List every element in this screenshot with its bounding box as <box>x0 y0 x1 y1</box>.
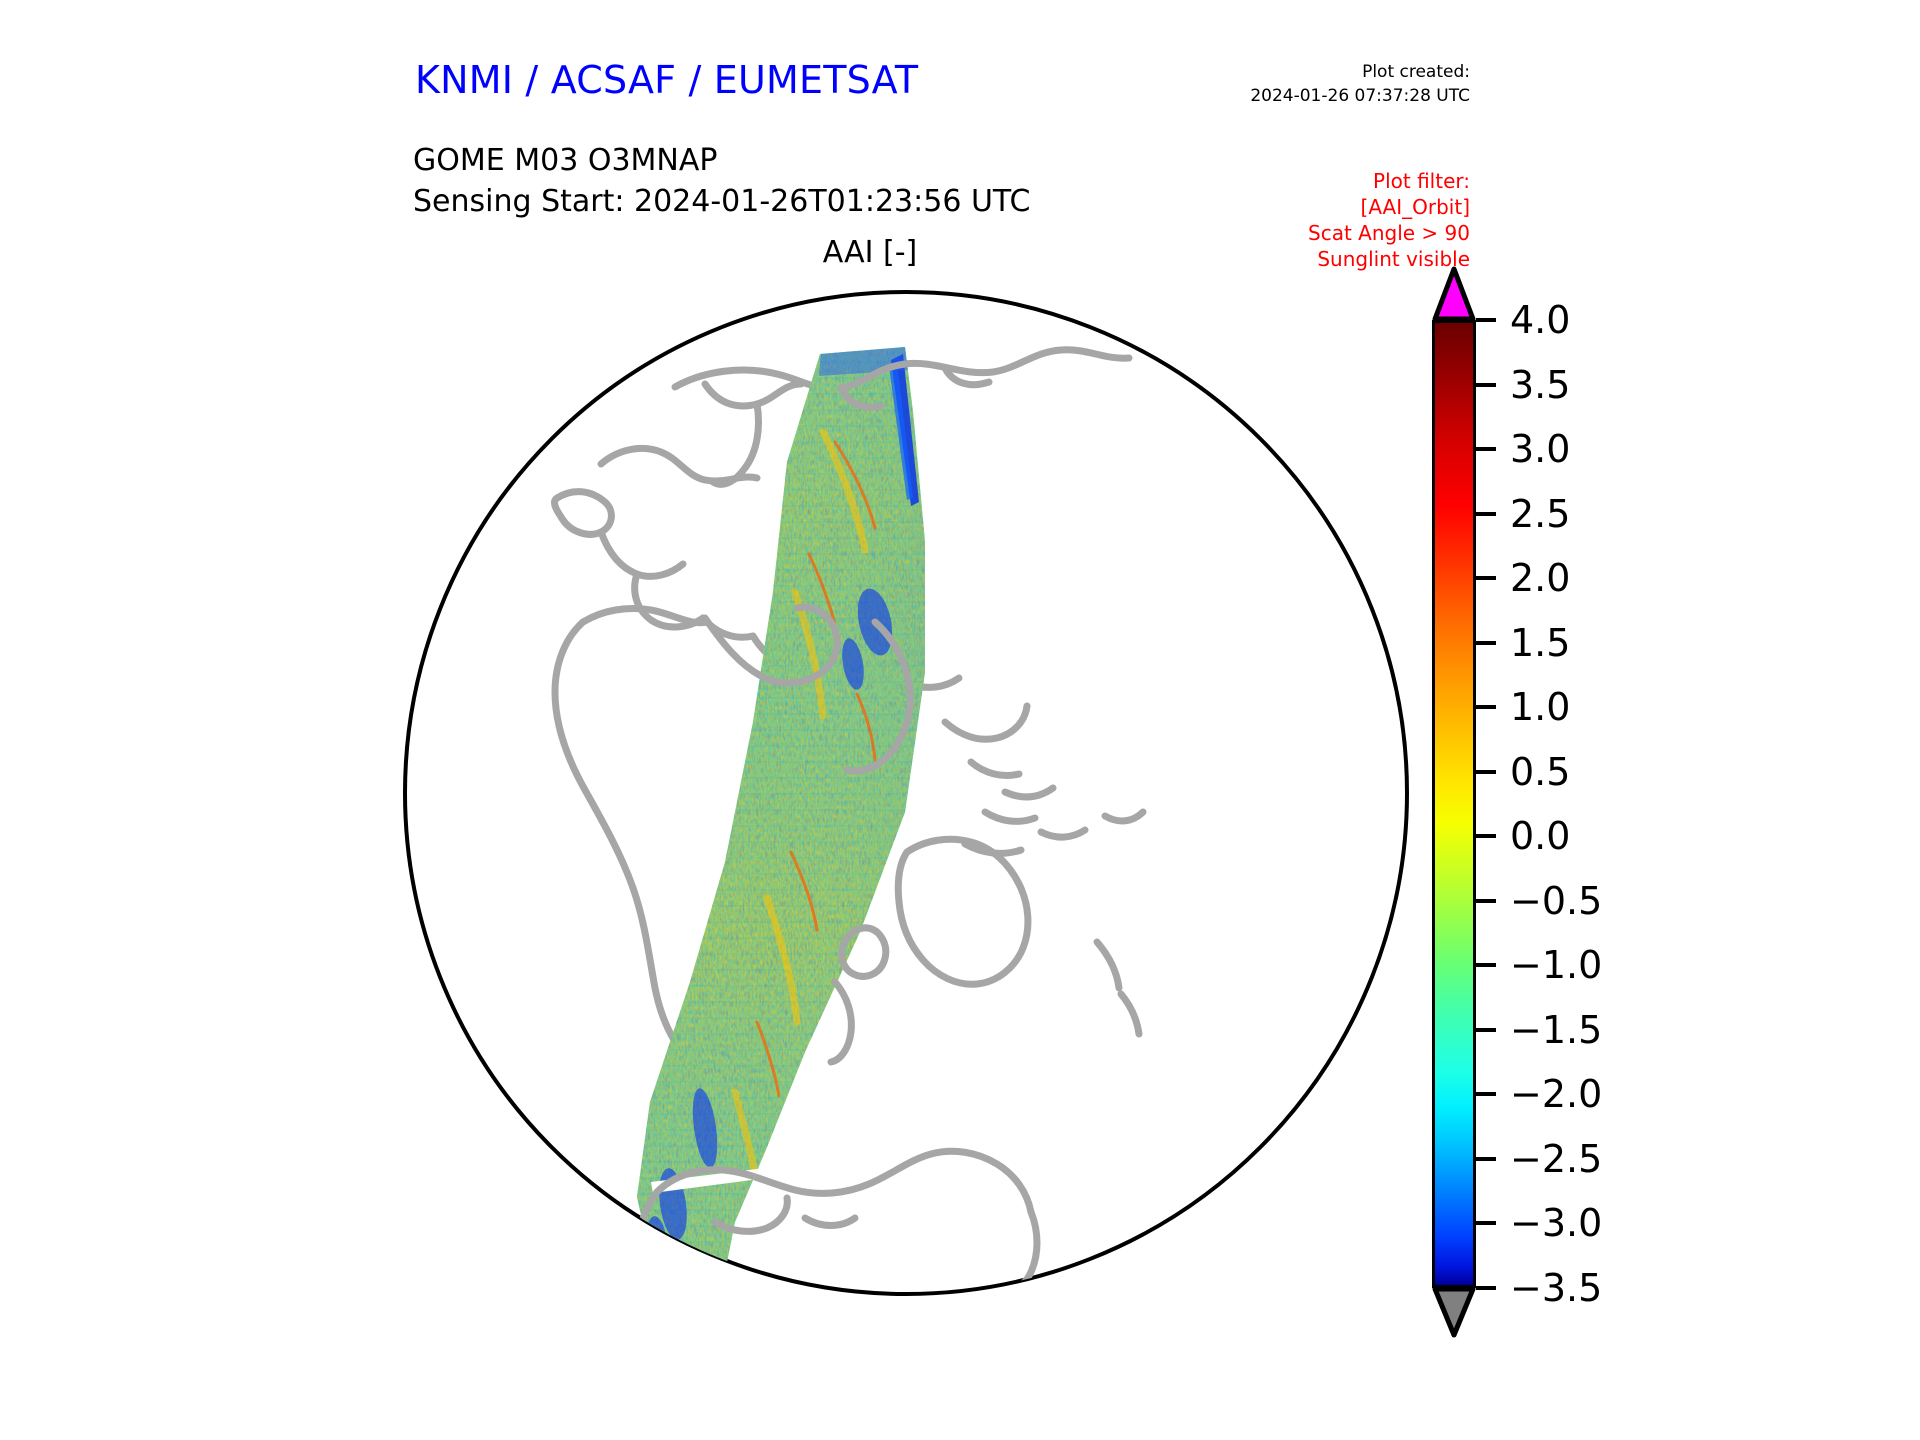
plot-filter-block: Plot filter: [AAI_Orbit] Scat Angle > 90… <box>1308 168 1470 272</box>
colorbar-tick <box>1476 963 1496 967</box>
colorbar-tick-label: −1.0 <box>1510 946 1602 984</box>
colorbar-tick-label: 0.5 <box>1510 753 1570 791</box>
colorbar-tick <box>1476 899 1496 903</box>
data-swath <box>605 332 965 1294</box>
plot-created-value: 2024-01-26 07:37:28 UTC <box>1250 84 1470 108</box>
colorbar-tick <box>1476 512 1496 516</box>
colorbar-over-arrow-icon <box>1432 266 1476 322</box>
colorbar-tick <box>1476 1092 1496 1096</box>
colorbar-tick <box>1476 1157 1496 1161</box>
colorbar-tick-label: 4.0 <box>1510 301 1570 339</box>
colorbar-tick <box>1476 641 1496 645</box>
colorbar-tick <box>1476 1028 1496 1032</box>
colorbar-tick <box>1476 383 1496 387</box>
colorbar-tick <box>1476 705 1496 709</box>
plot-created-label: Plot created: <box>1250 60 1470 84</box>
product-info-block: GOME M03 O3MNAP Sensing Start: 2024-01-2… <box>413 140 1030 222</box>
map-svg <box>405 292 1407 1294</box>
colorbar-tick <box>1476 770 1496 774</box>
colorbar-tick-label: −2.5 <box>1510 1140 1602 1178</box>
colorbar-tick <box>1476 447 1496 451</box>
colorbar-under-arrow-icon <box>1432 1286 1476 1338</box>
colorbar-tick-label: 2.0 <box>1510 559 1570 597</box>
colorbar-tick-label: 2.5 <box>1510 495 1570 533</box>
colorbar-tick <box>1476 318 1496 322</box>
colorbar: 4.03.53.02.52.01.51.00.50.0−0.5−1.0−1.5−… <box>1428 280 1848 1300</box>
orthographic-map <box>398 285 1418 1305</box>
plot-filter-line-1: [AAI_Orbit] <box>1308 194 1470 220</box>
colorbar-tick-label: −3.0 <box>1510 1204 1602 1242</box>
colorbar-tick-label: 1.0 <box>1510 688 1570 726</box>
colorbar-tick-label: 3.0 <box>1510 430 1570 468</box>
quantity-title-text: AAI [-] <box>823 235 918 270</box>
page-title: AAI [-] <box>0 235 1920 270</box>
colorbar-tick-label: 0.0 <box>1510 817 1570 855</box>
map-content-clip <box>405 292 1407 1294</box>
instrument-line: GOME M03 O3MNAP <box>413 140 1030 181</box>
plot-filter-line-2: Scat Angle > 90 <box>1308 220 1470 246</box>
colorbar-tick <box>1476 1286 1496 1290</box>
colorbar-tick <box>1476 834 1496 838</box>
colorbar-tick <box>1476 576 1496 580</box>
organisation-title: KNMI / ACSAF / EUMETSAT <box>415 58 918 102</box>
colorbar-tick-label: −3.5 <box>1510 1269 1602 1307</box>
colorbar-gradient <box>1432 320 1476 1288</box>
colorbar-tick <box>1476 1221 1496 1225</box>
colorbar-tick-label: −0.5 <box>1510 882 1602 920</box>
colorbar-tick-label: −2.0 <box>1510 1075 1602 1113</box>
colorbar-tick-label: 3.5 <box>1510 366 1570 404</box>
colorbar-tick-label: −1.5 <box>1510 1011 1602 1049</box>
colorbar-tick-label: 1.5 <box>1510 624 1570 662</box>
sensing-start-line: Sensing Start: 2024-01-26T01:23:56 UTC <box>413 181 1030 222</box>
plot-created-block: Plot created: 2024-01-26 07:37:28 UTC <box>1250 60 1470 108</box>
plot-filter-line-0: Plot filter: <box>1308 168 1470 194</box>
